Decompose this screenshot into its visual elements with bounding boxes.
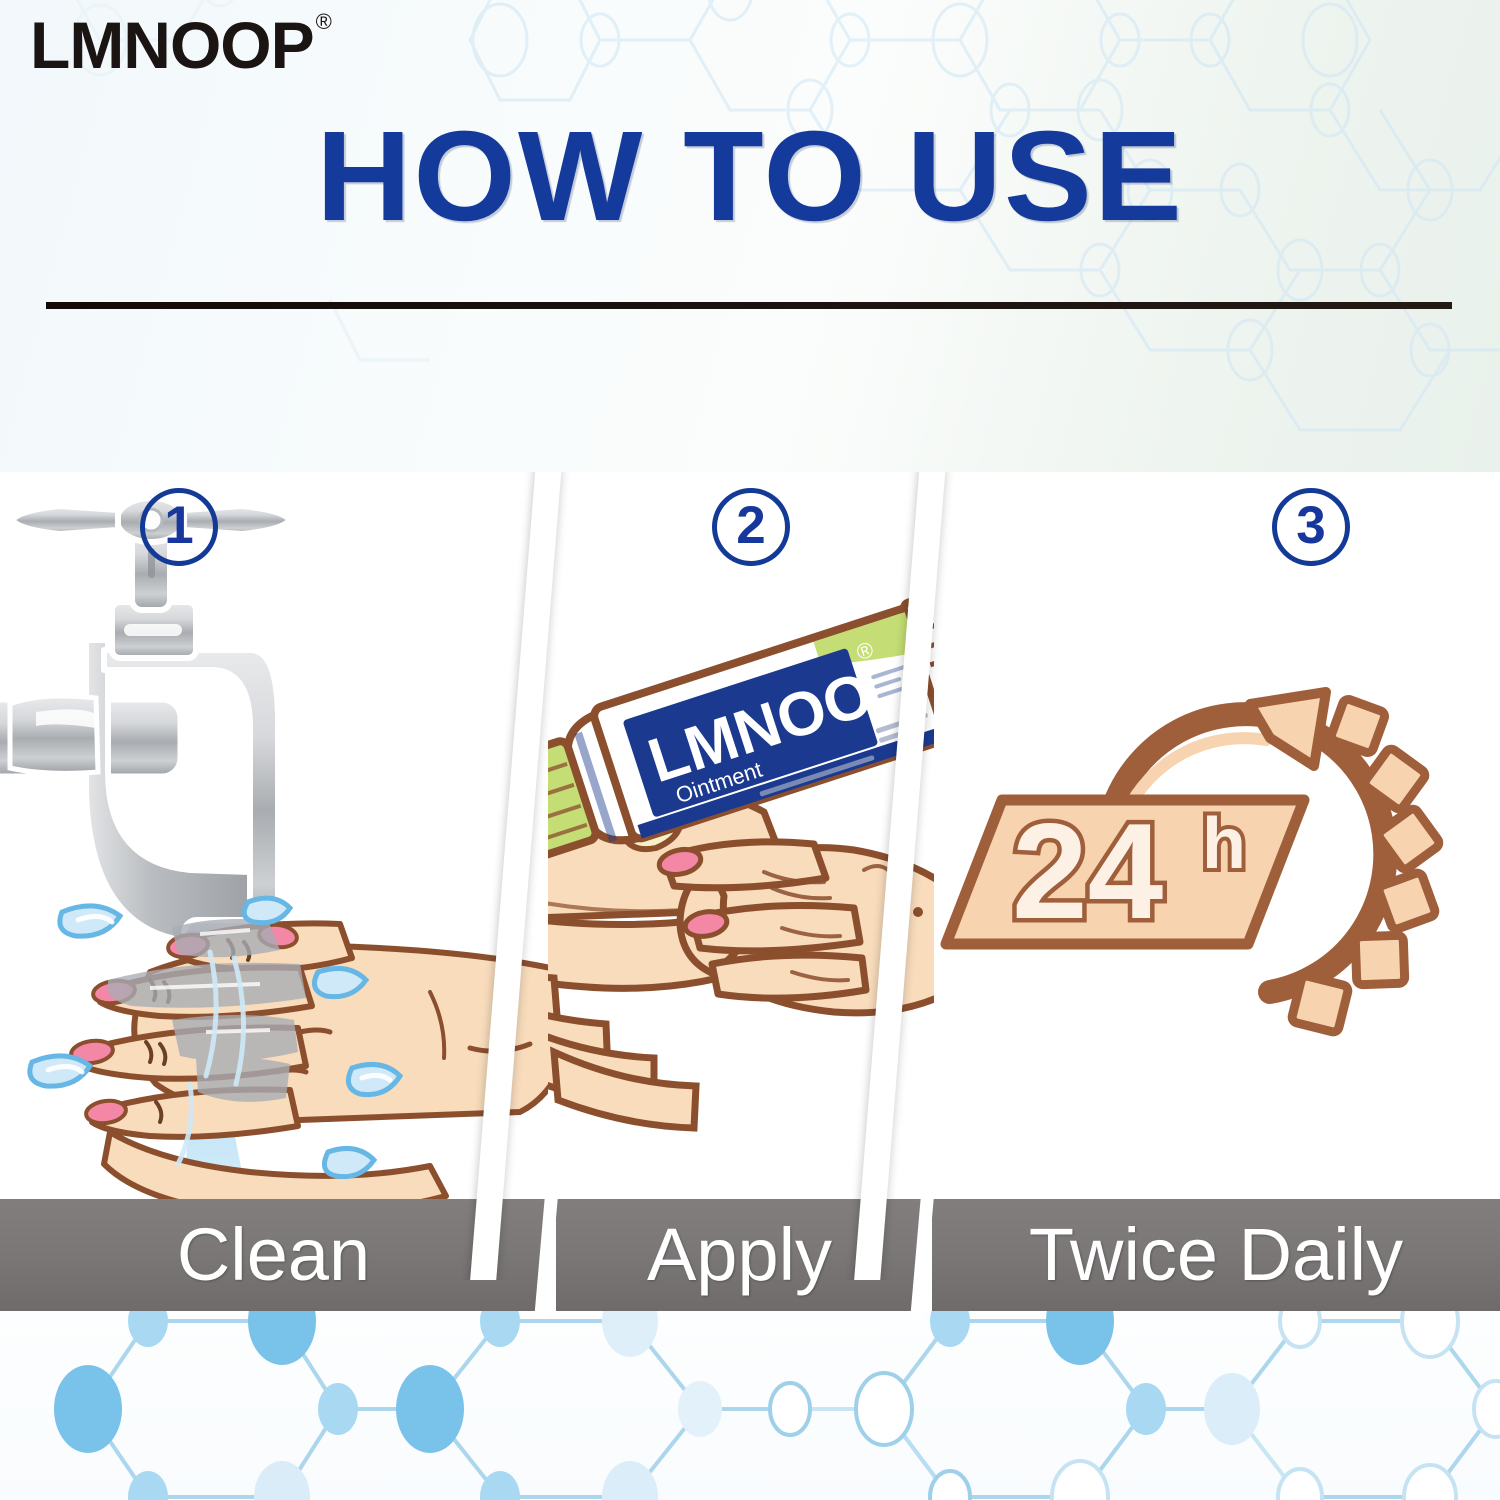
infographic-page: LMNOOP® HOW TO USE: [0, 0, 1500, 1500]
step-badge-3: 3: [1272, 488, 1350, 566]
step-badge-1: 1: [140, 488, 218, 566]
icon-unit-h: h: [1202, 804, 1246, 884]
brand-logo-text: LMNOOP: [30, 8, 314, 82]
brand-logo: LMNOOP®: [30, 12, 329, 78]
header-divider: [46, 302, 1452, 309]
registered-trademark-icon: ®: [316, 9, 331, 34]
faucet-washing-hands-illustration: [0, 472, 548, 1280]
step-caption-3: Twice Daily: [932, 1199, 1500, 1311]
step-badge-2: 2: [712, 488, 790, 566]
caption-bar: Clean Apply Twice Daily: [0, 1199, 1500, 1311]
step-panel-1: [0, 472, 548, 1280]
footer-molecule-pattern: [0, 1311, 1500, 1500]
icon-number-24: 24: [1012, 795, 1163, 947]
twentyfour-hour-icon: 24 h: [934, 472, 1500, 1280]
page-title: HOW TO USE: [0, 113, 1500, 241]
footer-section: [0, 1311, 1500, 1500]
steps-section: LMNOOP ® Ointment: [0, 472, 1500, 1280]
step-caption-1: Clean: [0, 1199, 547, 1311]
header-section: LMNOOP® HOW TO USE: [0, 0, 1500, 472]
step-panel-3: 24 h: [934, 472, 1500, 1280]
